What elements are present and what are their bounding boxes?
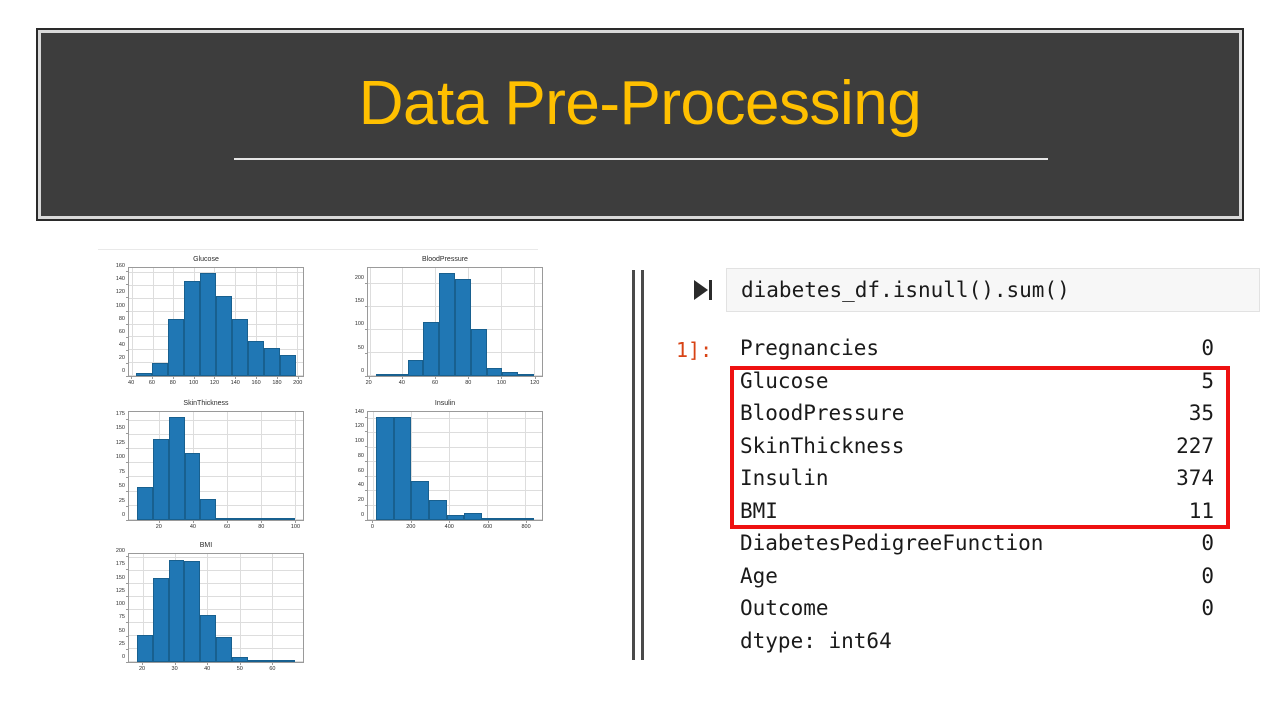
y-axis-tick-mark — [365, 505, 367, 506]
x-axis-tick-mark — [298, 377, 299, 379]
y-axis-tick-label: 160 — [116, 263, 125, 269]
output-row: BMI11 — [734, 499, 1234, 532]
code-cell-input-row: diabetes_df.isnull().sum() — [684, 268, 1260, 312]
x-axis-tick-label: 120 — [210, 380, 219, 386]
x-axis-tick-label: 180 — [272, 380, 281, 386]
histogram-body: 0204060801001201401604060801001201401601… — [100, 265, 312, 393]
histogram-tick-labels: 0204060801001201401604060801001201401601… — [128, 267, 304, 377]
y-axis-tick-mark — [126, 491, 128, 492]
x-axis-tick-label: 100 — [291, 524, 300, 530]
y-axis-tick-label: 50 — [358, 345, 364, 351]
y-axis-tick-mark — [126, 622, 128, 623]
notebook-top-divider — [98, 249, 538, 250]
x-axis-tick-label: 30 — [172, 666, 178, 672]
y-axis-tick-mark — [126, 337, 128, 338]
y-axis-tick-mark — [365, 353, 367, 354]
histogram-body: 025507510012515017520406080100 — [100, 409, 312, 537]
y-axis-tick-label: 100 — [355, 438, 364, 444]
x-axis-tick-label: 160 — [252, 380, 261, 386]
y-axis-tick-label: 100 — [116, 303, 125, 309]
output-row-value: 35 — [734, 401, 1214, 425]
x-axis-tick-label: 40 — [190, 524, 196, 530]
y-axis-tick-mark — [126, 506, 128, 507]
y-axis-tick-mark — [126, 569, 128, 570]
x-axis-tick-mark — [194, 377, 195, 379]
y-axis-tick-label: 0 — [122, 368, 125, 374]
output-series-list: Pregnancies0Glucose5BloodPressure35SkinT… — [734, 336, 1234, 661]
output-row-value: 374 — [734, 466, 1214, 490]
y-axis-tick-mark — [365, 283, 367, 284]
notebook-output-panel: diabetes_df.isnull().sum() 1]: Pregnanci… — [624, 262, 1260, 662]
x-axis-tick-mark — [369, 377, 370, 379]
y-axis-tick-label: 100 — [116, 454, 125, 460]
x-axis-tick-mark — [526, 521, 527, 523]
histogram-insulin: Insulin0204060801001201400200400600800 — [339, 398, 551, 538]
y-axis-tick-mark — [126, 583, 128, 584]
x-axis-tick-label: 100 — [497, 380, 506, 386]
output-row-value: 227 — [734, 434, 1214, 458]
x-axis-tick-label: 20 — [156, 524, 162, 530]
y-axis-tick-label: 150 — [116, 575, 125, 581]
y-axis-tick-mark — [126, 284, 128, 285]
x-axis-tick-mark — [488, 521, 489, 523]
y-axis-tick-label: 150 — [355, 298, 364, 304]
output-row-value: 0 — [734, 336, 1214, 360]
histogram-tick-labels: 02550751001251501752002030405060 — [128, 553, 304, 663]
output-dtype-text: dtype: int64 — [740, 629, 892, 653]
y-axis-tick-mark — [126, 297, 128, 298]
y-axis-tick-mark — [126, 419, 128, 420]
cell-gutter-bar-left — [632, 270, 635, 660]
x-axis-tick-mark — [131, 377, 132, 379]
histogram-title: Insulin — [339, 398, 551, 409]
y-axis-tick-label: 25 — [119, 498, 125, 504]
y-axis-tick-label: 60 — [358, 468, 364, 474]
y-axis-tick-label: 200 — [355, 275, 364, 281]
histogram-title: BloodPressure — [339, 254, 551, 265]
y-axis-tick-label: 80 — [119, 316, 125, 322]
x-axis-tick-label: 140 — [231, 380, 240, 386]
y-axis-tick-label: 120 — [116, 289, 125, 295]
x-axis-tick-label: 60 — [149, 380, 155, 386]
x-axis-tick-mark — [261, 521, 262, 523]
x-axis-tick-mark — [240, 663, 241, 665]
x-axis-tick-mark — [227, 521, 228, 523]
y-axis-tick-mark — [365, 446, 367, 447]
x-axis-tick-label: 100 — [189, 380, 198, 386]
x-axis-tick-label: 40 — [399, 380, 405, 386]
y-axis-tick-mark — [126, 363, 128, 364]
x-axis-tick-label: 200 — [293, 380, 302, 386]
y-axis-tick-mark — [126, 462, 128, 463]
slide-canvas: Data Pre-Processing Glucose0204060801001… — [0, 0, 1280, 720]
x-axis-tick-mark — [295, 521, 296, 523]
x-axis-tick-mark — [372, 521, 373, 523]
histogram-title: BMI — [100, 540, 312, 551]
x-axis-tick-label: 60 — [269, 666, 275, 672]
output-prompt-label: 1]: — [676, 338, 712, 362]
x-axis-tick-label: 60 — [432, 380, 438, 386]
y-axis-tick-label: 50 — [119, 628, 125, 634]
x-axis-tick-mark — [501, 377, 502, 379]
output-row: BloodPressure35 — [734, 401, 1234, 434]
y-axis-tick-mark — [365, 306, 367, 307]
output-row-value: 0 — [734, 531, 1214, 555]
output-row: DiabetesPedigreeFunction0 — [734, 531, 1234, 564]
y-axis-tick-mark — [365, 417, 367, 418]
x-axis-tick-mark — [175, 663, 176, 665]
y-axis-tick-mark — [365, 329, 367, 330]
output-row: Pregnancies0 — [734, 336, 1234, 369]
y-axis-tick-label: 120 — [355, 423, 364, 429]
x-axis-tick-label: 200 — [406, 524, 415, 530]
x-axis-tick-label: 120 — [530, 380, 539, 386]
y-axis-tick-mark — [126, 448, 128, 449]
x-axis-tick-mark — [402, 377, 403, 379]
histogram-bloodpressure: BloodPressure05010015020020406080100120 — [339, 254, 551, 394]
y-axis-tick-mark — [126, 477, 128, 478]
x-axis-tick-mark — [159, 521, 160, 523]
y-axis-tick-mark — [126, 433, 128, 434]
y-axis-tick-mark — [365, 461, 367, 462]
output-row: Insulin374 — [734, 466, 1234, 499]
run-cell-icon[interactable] — [692, 278, 714, 302]
y-axis-tick-mark — [365, 476, 367, 477]
y-axis-tick-label: 0 — [361, 368, 364, 374]
x-axis-tick-mark — [214, 377, 215, 379]
y-axis-tick-label: 200 — [116, 548, 125, 554]
y-axis-tick-label: 0 — [122, 654, 125, 660]
histogram-tick-labels: 025507510012515017520406080100 — [128, 411, 304, 521]
y-axis-tick-label: 100 — [116, 601, 125, 607]
x-axis-tick-label: 600 — [483, 524, 492, 530]
y-axis-tick-mark — [126, 636, 128, 637]
x-axis-tick-label: 50 — [237, 666, 243, 672]
y-axis-tick-label: 20 — [119, 355, 125, 361]
y-axis-tick-label: 25 — [119, 641, 125, 647]
histogram-title: Glucose — [100, 254, 312, 265]
y-axis-tick-label: 50 — [119, 483, 125, 489]
x-axis-tick-mark — [277, 377, 278, 379]
x-axis-tick-label: 40 — [128, 380, 134, 386]
histogram-skinthickness: SkinThickness025507510012515017520406080… — [100, 398, 312, 538]
title-divider — [234, 158, 1048, 160]
histogram-body: 0204060801001201400200400600800 — [339, 409, 551, 537]
output-row-value: 0 — [734, 596, 1214, 620]
code-input-box[interactable]: diabetes_df.isnull().sum() — [726, 268, 1260, 312]
x-axis-tick-mark — [468, 377, 469, 379]
y-axis-tick-mark — [126, 311, 128, 312]
x-axis-tick-mark — [435, 377, 436, 379]
y-axis-tick-mark — [365, 520, 367, 521]
output-row: SkinThickness227 — [734, 434, 1234, 467]
y-axis-tick-label: 175 — [116, 411, 125, 417]
y-axis-tick-label: 140 — [355, 409, 364, 415]
y-axis-tick-mark — [126, 596, 128, 597]
histogram-grid: Glucose020406080100120140160406080100120… — [96, 240, 566, 675]
x-axis-tick-mark — [535, 377, 536, 379]
y-axis-tick-mark — [126, 556, 128, 557]
y-axis-tick-label: 60 — [119, 329, 125, 335]
y-axis-tick-label: 40 — [119, 342, 125, 348]
x-axis-tick-label: 800 — [521, 524, 530, 530]
y-axis-tick-mark — [126, 609, 128, 610]
x-axis-tick-label: 80 — [170, 380, 176, 386]
output-row: Glucose5 — [734, 369, 1234, 402]
y-axis-tick-mark — [365, 376, 367, 377]
y-axis-tick-mark — [365, 490, 367, 491]
y-axis-tick-label: 80 — [358, 453, 364, 459]
y-axis-tick-label: 125 — [116, 440, 125, 446]
histogram-tick-labels: 0204060801001201400200400600800 — [367, 411, 543, 521]
y-axis-tick-mark — [126, 520, 128, 521]
y-axis-tick-label: 0 — [361, 512, 364, 518]
title-banner: Data Pre-Processing — [36, 28, 1244, 221]
x-axis-tick-mark — [256, 377, 257, 379]
y-axis-tick-label: 75 — [119, 469, 125, 475]
y-axis-tick-label: 40 — [358, 482, 364, 488]
output-row-value: 11 — [734, 499, 1214, 523]
histogram-bmi: BMI02550751001251501752002030405060 — [100, 540, 312, 680]
x-axis-tick-label: 0 — [371, 524, 374, 530]
histogram-body: 05010015020020406080100120 — [339, 265, 551, 393]
y-axis-tick-mark — [126, 376, 128, 377]
x-axis-tick-label: 80 — [258, 524, 264, 530]
y-axis-tick-mark — [126, 324, 128, 325]
x-axis-tick-label: 80 — [465, 380, 471, 386]
x-axis-tick-mark — [173, 377, 174, 379]
y-axis-tick-label: 175 — [116, 561, 125, 567]
y-axis-tick-mark — [126, 350, 128, 351]
x-axis-tick-mark — [207, 663, 208, 665]
x-axis-tick-mark — [411, 521, 412, 523]
page-title: Data Pre-Processing — [38, 68, 1242, 139]
output-row: Outcome0 — [734, 596, 1234, 629]
x-axis-tick-label: 60 — [224, 524, 230, 530]
x-axis-tick-mark — [152, 377, 153, 379]
x-axis-tick-label: 20 — [366, 380, 372, 386]
histogram-title: SkinThickness — [100, 398, 312, 409]
x-axis-tick-mark — [449, 521, 450, 523]
x-axis-tick-label: 400 — [445, 524, 454, 530]
output-row-value: 0 — [734, 564, 1214, 588]
y-axis-tick-mark — [126, 271, 128, 272]
output-dtype-row: dtype: int64 — [734, 629, 1234, 662]
x-axis-tick-label: 40 — [204, 666, 210, 672]
histogram-glucose: Glucose020406080100120140160406080100120… — [100, 254, 312, 394]
y-axis-tick-label: 140 — [116, 276, 125, 282]
y-axis-tick-mark — [126, 662, 128, 663]
code-input-text: diabetes_df.isnull().sum() — [741, 278, 1070, 302]
y-axis-tick-mark — [126, 649, 128, 650]
output-row: Age0 — [734, 564, 1234, 597]
histogram-body: 02550751001251501752002030405060 — [100, 551, 312, 679]
x-axis-tick-mark — [193, 521, 194, 523]
y-axis-tick-label: 100 — [355, 321, 364, 327]
x-axis-tick-mark — [235, 377, 236, 379]
y-axis-tick-label: 150 — [116, 425, 125, 431]
y-axis-tick-label: 125 — [116, 588, 125, 594]
y-axis-tick-label: 75 — [119, 614, 125, 620]
y-axis-tick-label: 0 — [122, 512, 125, 518]
x-axis-tick-mark — [272, 663, 273, 665]
y-axis-tick-mark — [365, 431, 367, 432]
y-axis-tick-label: 20 — [358, 497, 364, 503]
x-axis-tick-mark — [142, 663, 143, 665]
x-axis-tick-label: 20 — [139, 666, 145, 672]
output-row-value: 5 — [734, 369, 1214, 393]
cell-gutter-bar-right — [641, 270, 644, 660]
histogram-tick-labels: 05010015020020406080100120 — [367, 267, 543, 377]
